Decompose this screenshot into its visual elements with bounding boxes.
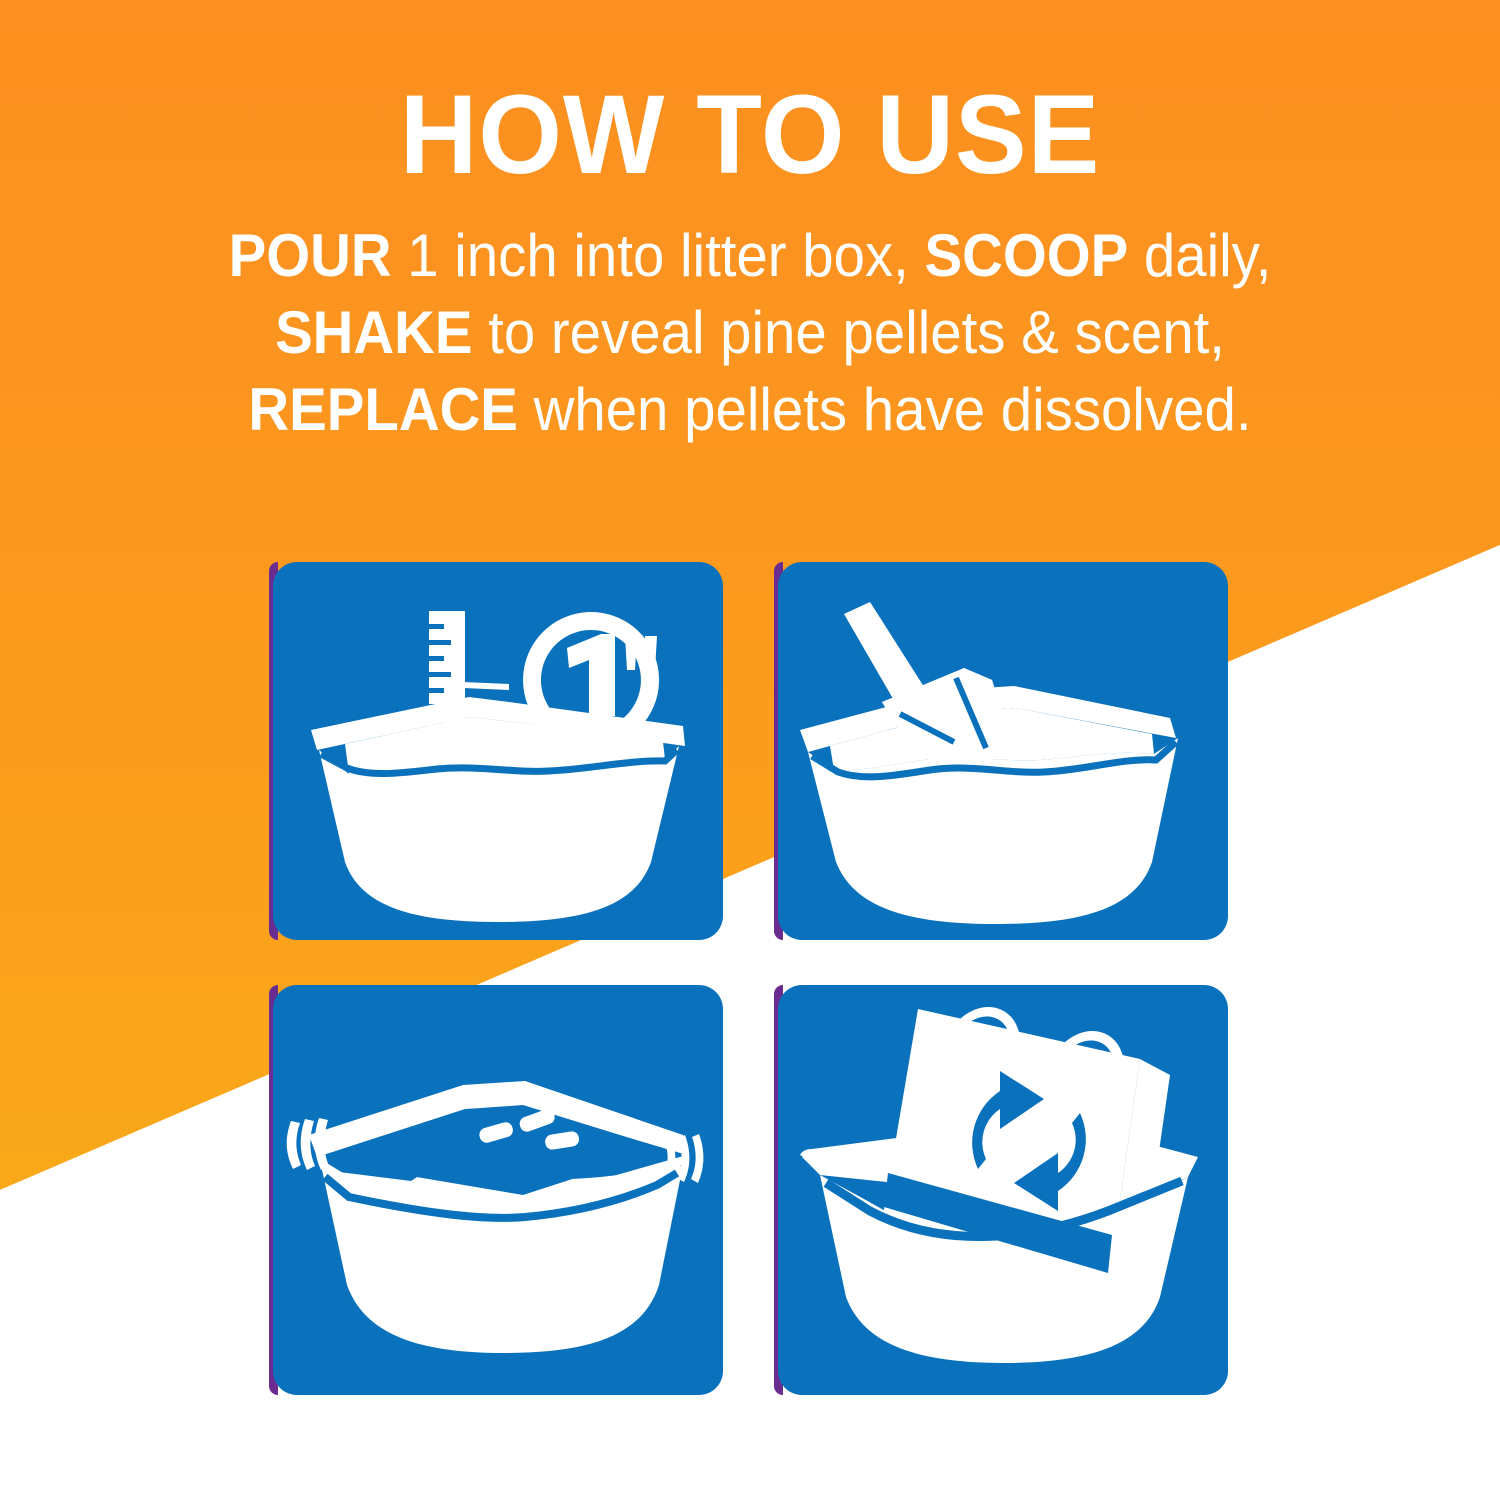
litter-box-shaking-with-pellets-icon [273,985,723,1395]
step-icon-grid [273,562,1228,1395]
step-tile-scoop[interactable] [778,562,1228,940]
instruction-text-1b: daily, [1128,222,1271,289]
instruction-line-2: SHAKE to reveal pine pellets & scent, [111,295,1389,372]
step-tile-replace[interactable] [778,985,1228,1395]
keyword-pour: POUR [229,222,392,289]
step-tile-shake[interactable] [273,985,723,1395]
instruction-line-1: POUR 1 inch into litter box, SCOOP daily… [111,218,1389,295]
step-tile-pour[interactable] [273,562,723,940]
instruction-text-1a: 1 inch into litter box, [392,222,925,289]
keyword-scoop: SCOOP [925,222,1129,289]
instruction-line-3: REPLACE when pellets have dissolved. [111,372,1389,449]
instructions-block: POUR 1 inch into litter box, SCOOP daily… [45,218,1455,448]
litter-box-with-ruler-icon [273,562,723,940]
header-text-block: HOW TO USE POUR 1 inch into litter box, … [0,0,1500,449]
instruction-text-3: when pellets have dissolved. [518,376,1252,443]
instruction-text-2: to reveal pine pellets & scent, [472,299,1224,366]
how-to-use-poster: HOW TO USE POUR 1 inch into litter box, … [0,0,1500,1500]
page-title: HOW TO USE [30,78,1470,192]
keyword-replace: REPLACE [248,376,518,443]
litter-box-with-recycle-bag-icon [778,985,1228,1395]
keyword-shake: SHAKE [275,299,472,366]
litter-box-with-scoop-icon [778,562,1228,940]
